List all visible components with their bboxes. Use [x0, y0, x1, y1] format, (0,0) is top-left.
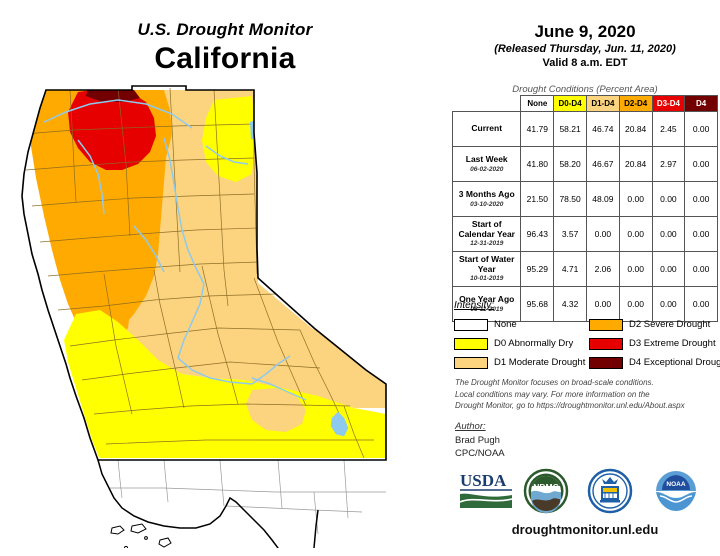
- row-label-start-water-year: Start of Water Year 10-01-2019: [453, 252, 521, 287]
- map-fill-layers: [14, 78, 444, 548]
- legend-label-d3: D3 Extreme Drought: [629, 338, 716, 349]
- author-organization: CPC/NOAA: [455, 448, 505, 459]
- legend-item-none: None: [454, 315, 585, 334]
- noaa-logo-icon: NOAA: [650, 468, 702, 514]
- row-label-3-months-ago: 3 Months Ago 03-10-2020: [453, 182, 521, 217]
- cell-d0: 58.21: [554, 112, 587, 147]
- cell-d4: 0.00: [685, 112, 718, 147]
- swatch-d2: [589, 319, 623, 331]
- legend-column-right: D2 Severe Drought D3 Extreme Drought D4 …: [589, 315, 720, 372]
- map-pane: U.S. Drought Monitor California: [0, 0, 450, 556]
- california-drought-map: [14, 78, 444, 548]
- cell-d4: 0.00: [685, 147, 718, 182]
- row-label-text: Current: [471, 123, 502, 133]
- table-body: Current 41.79 58.21 46.74 20.84 2.45 0.0…: [453, 112, 718, 322]
- table-corner-cell: [453, 96, 521, 112]
- cell-d0: 78.50: [554, 182, 587, 217]
- cell-d4: 0.00: [685, 182, 718, 217]
- row-label-date: 03-10-2020: [454, 201, 519, 208]
- cell-d1: 48.09: [586, 182, 619, 217]
- cell-d3: 0.00: [652, 217, 685, 252]
- note-line-1: The Drought Monitor focuses on broad-sca…: [455, 377, 717, 389]
- cell-d4: 0.00: [685, 252, 718, 287]
- cell-d1: 46.74: [586, 112, 619, 147]
- map-svg: [14, 78, 444, 548]
- site-url: droughtmonitor.unl.edu: [450, 522, 720, 537]
- cell-d4: 0.00: [685, 217, 718, 252]
- cell-none: 95.29: [521, 252, 554, 287]
- row-label-current: Current: [453, 112, 521, 147]
- row-label-start-calendar-year: Start of Calendar Year 12-31-2019: [453, 217, 521, 252]
- cell-d3: 2.45: [652, 112, 685, 147]
- report-date: June 9, 2020: [450, 22, 720, 42]
- row-label-date: 06-02-2020: [454, 166, 519, 173]
- usda-logo-icon: USDA: [458, 468, 514, 512]
- row-label-date: 12-31-2019: [454, 240, 519, 247]
- column-header-d2: D2-D4: [619, 96, 652, 112]
- svg-text:USDA: USDA: [460, 471, 507, 490]
- cell-d3: 0.00: [652, 252, 685, 287]
- legend-item-d1: D1 Moderate Drought: [454, 353, 585, 372]
- legend-item-d4: D4 Exceptional Drought: [589, 353, 720, 372]
- table-row: Last Week 06-02-2020 41.80 58.20 46.67 2…: [453, 147, 718, 182]
- cell-none: 96.43: [521, 217, 554, 252]
- cell-none: 21.50: [521, 182, 554, 217]
- usda-seal-icon: [586, 468, 634, 514]
- cell-d1: 2.06: [586, 252, 619, 287]
- table-row: Start of Water Year 10-01-2019 95.29 4.7…: [453, 252, 718, 287]
- report-released: (Released Thursday, Jun. 11, 2020): [450, 43, 720, 55]
- cell-d3: 2.97: [652, 147, 685, 182]
- table-row: Current 41.79 58.21 46.74 20.84 2.45 0.0…: [453, 112, 718, 147]
- page-title-state: California: [0, 42, 450, 76]
- cell-d0: 4.71: [554, 252, 587, 287]
- column-header-d1: D1-D4: [586, 96, 619, 112]
- swatch-none: [454, 319, 488, 331]
- page-title-organization: U.S. Drought Monitor: [0, 20, 450, 40]
- cell-d2: 20.84: [619, 147, 652, 182]
- coastline-south: [98, 460, 318, 548]
- ndmc-logo: NDMC: [522, 468, 570, 519]
- logo-row: USDA NDMC: [450, 468, 720, 518]
- legend-label-d1: D1 Moderate Drought: [494, 357, 585, 368]
- row-label-text: Last Week: [466, 154, 508, 164]
- report-valid: Valid 8 a.m. EDT: [450, 57, 720, 69]
- swatch-d1: [454, 357, 488, 369]
- drought-monitor-page: U.S. Drought Monitor California: [0, 0, 720, 556]
- legend-item-d3: D3 Extreme Drought: [589, 334, 720, 353]
- legend-item-d0: D0 Abnormally Dry: [454, 334, 585, 353]
- table-caption: Drought Conditions (Percent Area): [450, 84, 720, 95]
- southern-county-boundaries: [100, 460, 386, 534]
- cell-d2: 0.00: [619, 217, 652, 252]
- note-line-2: Local conditions may vary. For more info…: [455, 389, 717, 401]
- disclaimer-note: The Drought Monitor focuses on broad-sca…: [455, 377, 717, 412]
- swatch-d3: [589, 338, 623, 350]
- cell-none: 41.80: [521, 147, 554, 182]
- legend-column-left: None D0 Abnormally Dry D1 Moderate Droug…: [454, 315, 585, 372]
- cell-d3: 0.00: [652, 182, 685, 217]
- legend-label-d0: D0 Abnormally Dry: [494, 338, 573, 349]
- author-heading: Author:: [455, 421, 486, 432]
- column-header-d0: D0-D4: [554, 96, 587, 112]
- table-header-row: None D0-D4 D1-D4 D2-D4 D3-D4 D4: [453, 96, 718, 112]
- legend-label-d4: D4 Exceptional Drought: [629, 357, 720, 368]
- note-line-3: Drought Monitor, go to https://droughtmo…: [455, 400, 717, 412]
- svg-text:NOAA: NOAA: [666, 481, 685, 488]
- ndmc-logo-icon: NDMC: [522, 468, 570, 514]
- cell-d2: 0.00: [619, 182, 652, 217]
- author-name: Brad Pugh: [455, 435, 500, 446]
- column-header-d3: D3-D4: [652, 96, 685, 112]
- swatch-d0: [454, 338, 488, 350]
- cell-d0: 3.57: [554, 217, 587, 252]
- usda-seal-logo: [586, 468, 634, 519]
- usda-logo: USDA: [458, 468, 514, 517]
- column-header-none: None: [521, 96, 554, 112]
- legend-label-none: None: [494, 319, 517, 330]
- cell-d1: 0.00: [586, 217, 619, 252]
- svg-text:NDMC: NDMC: [533, 482, 559, 492]
- cell-d0: 58.20: [554, 147, 587, 182]
- table-head: None D0-D4 D1-D4 D2-D4 D3-D4 D4: [453, 96, 718, 112]
- row-label-last-week: Last Week 06-02-2020: [453, 147, 521, 182]
- cell-none: 41.79: [521, 112, 554, 147]
- row-label-text: Start of Calendar Year: [458, 219, 515, 239]
- noaa-logo: NOAA: [650, 468, 702, 519]
- legend-item-d2: D2 Severe Drought: [589, 315, 720, 334]
- row-label-text: 3 Months Ago: [459, 189, 515, 199]
- cell-d1: 46.67: [586, 147, 619, 182]
- legend-label-d2: D2 Severe Drought: [629, 319, 710, 330]
- intensity-heading: Intensity:: [454, 300, 494, 311]
- cell-d2: 0.00: [619, 252, 652, 287]
- swatch-d4: [589, 357, 623, 369]
- row-label-text: Start of Water Year: [459, 254, 514, 274]
- column-header-d4: D4: [685, 96, 718, 112]
- drought-conditions-table: None D0-D4 D1-D4 D2-D4 D3-D4 D4 Current …: [452, 95, 718, 322]
- table-row: Start of Calendar Year 12-31-2019 96.43 …: [453, 217, 718, 252]
- info-pane: June 9, 2020 (Released Thursday, Jun. 11…: [450, 0, 720, 556]
- row-label-date: 10-01-2019: [454, 275, 519, 282]
- channel-islands: [111, 524, 176, 548]
- cell-d2: 20.84: [619, 112, 652, 147]
- table-row: 3 Months Ago 03-10-2020 21.50 78.50 48.0…: [453, 182, 718, 217]
